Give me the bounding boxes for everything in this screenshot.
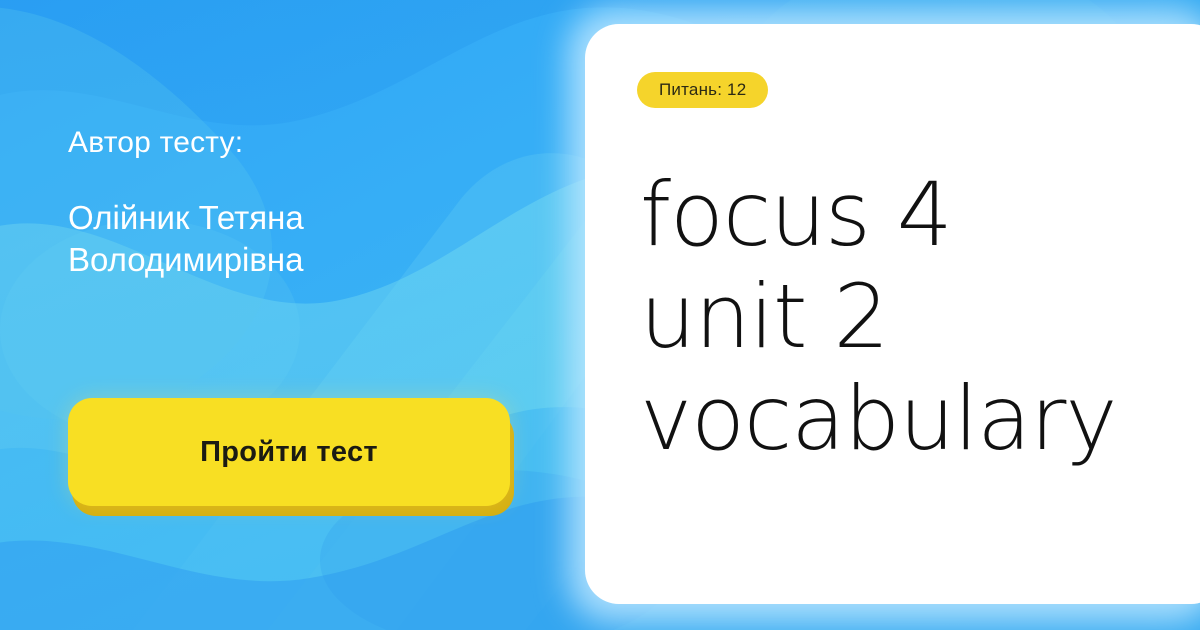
promo-banner: Автор тесту: Олійник Тетяна Володимирівн… xyxy=(0,0,1200,630)
test-title-line-3: vocabulary xyxy=(640,368,1200,470)
left-panel: Автор тесту: Олійник Тетяна Володимирівн… xyxy=(0,0,585,630)
test-title: focus 4 unit 2 vocabulary xyxy=(640,164,1200,470)
question-count-badge: Питань: 12 xyxy=(637,72,768,108)
test-title-line-1: focus 4 xyxy=(640,164,1200,266)
author-label: Автор тесту: xyxy=(68,125,538,161)
test-title-line-2: unit 2 xyxy=(640,266,1200,368)
author-name: Олійник Тетяна Володимирівна xyxy=(68,197,468,281)
cta-button-wrapper: Пройти тест xyxy=(68,398,514,518)
take-test-button-label: Пройти тест xyxy=(200,436,378,469)
question-count-badge-label: Питань: 12 xyxy=(659,80,746,100)
test-card: Питань: 12 focus 4 unit 2 vocabulary xyxy=(585,24,1200,604)
author-block: Автор тесту: Олійник Тетяна Володимирівн… xyxy=(68,125,538,281)
take-test-button[interactable]: Пройти тест xyxy=(68,398,510,506)
